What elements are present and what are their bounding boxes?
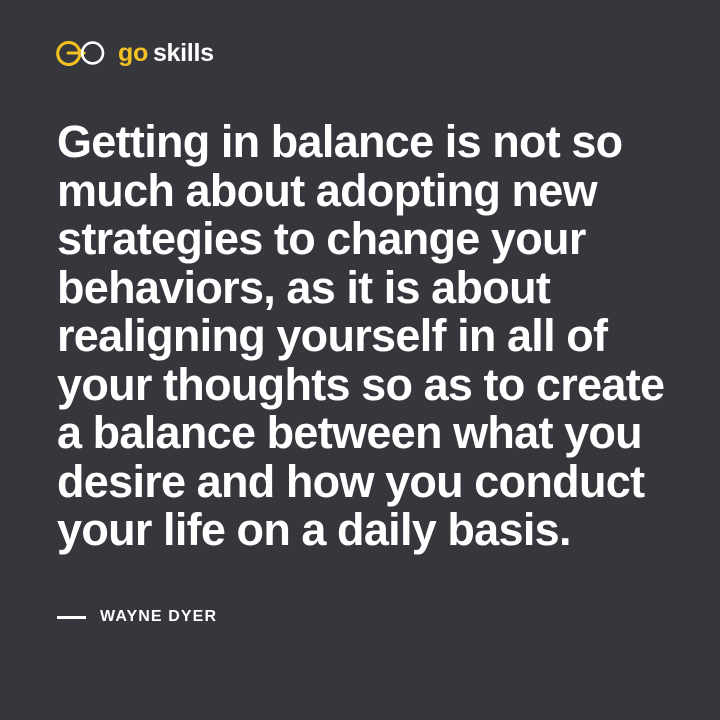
logo-word-go: go [118,41,148,66]
logo-word-skills: skills [153,41,214,66]
quote-attribution: WAYNE DYER [57,606,217,628]
quote-text: Getting in balance is not so much about … [57,118,687,555]
goskills-logo[interactable]: go skills [55,36,214,70]
attribution-dash-icon [57,616,86,619]
goskills-infinity-logo-icon [55,38,107,68]
goskills-wordmark: go skills [118,41,214,66]
attribution-author: WAYNE DYER [100,609,217,625]
quote-card: go skills Getting in balance is not so m… [0,0,720,720]
